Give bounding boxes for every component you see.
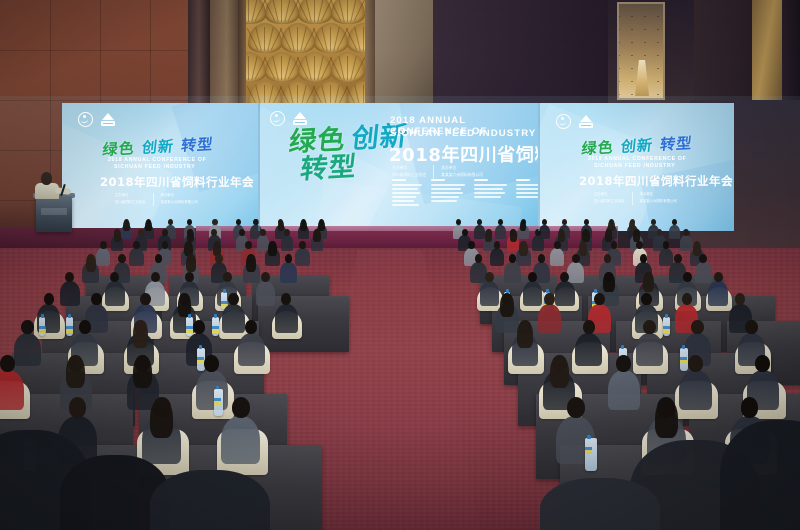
audience-person-body	[555, 281, 575, 306]
audience-person-body	[695, 262, 712, 283]
audience-person-hair	[550, 355, 569, 388]
audience-person-head	[162, 241, 169, 249]
water-bottle	[214, 389, 223, 416]
right-host-label: 承办单位	[640, 192, 677, 198]
right-organizer-block: 主办单位 四川省饲料工业协会 承办单位 某某某六洲饲料有限公司	[594, 192, 677, 205]
shield-mark-logo	[101, 113, 115, 126]
audience-person-body	[575, 333, 602, 367]
screen-seam-right	[538, 103, 540, 231]
audience-person-head	[583, 320, 595, 335]
center-host-label: 承办单位	[441, 165, 483, 171]
audience-person-body	[60, 281, 80, 306]
right-title-en-line1: 2018 ANNUAL CONFERENCE OF	[588, 156, 687, 162]
audience-person-body	[14, 333, 41, 367]
audience-person-body	[281, 235, 293, 251]
center-title-cn: 2018年四川省饲料行业年会	[389, 141, 538, 167]
audience-person-hair	[268, 241, 276, 256]
audience-person-head	[528, 272, 537, 283]
audience-person-hair	[517, 320, 533, 348]
audience-person-head	[245, 241, 252, 249]
audience-person-body	[105, 281, 125, 306]
audience-person-head	[594, 293, 605, 305]
audience-person-head	[641, 293, 652, 305]
audience-person-head	[215, 254, 223, 263]
audience-person-hair	[603, 272, 614, 292]
audience-person-body	[608, 370, 640, 410]
foreground-audience-silhouette	[150, 470, 270, 530]
audience-seating	[0, 0, 800, 530]
audience-person-body	[567, 262, 584, 283]
audience-person-body	[636, 333, 663, 367]
audience-person-hair	[114, 229, 121, 242]
audience-person-head	[299, 241, 306, 249]
calligraphy-word-cyan: 创新	[141, 135, 175, 158]
audience-person-body	[129, 248, 143, 266]
audience-person-body	[680, 235, 692, 251]
led-screen-wall: 绿色 创新 转型 2018 ANNUAL CONFERENCE OF SICHU…	[62, 103, 734, 231]
audience-person-head	[118, 254, 126, 263]
right-host-name: 某某某六洲饲料有限公司	[640, 199, 677, 205]
left-title-cn: 2018年四川省饲料行业年会	[100, 174, 254, 190]
audience-person-hair	[246, 254, 256, 271]
audience-person-head	[232, 397, 250, 418]
audience-person-head	[133, 241, 140, 249]
center-main-screen: 绿色 创新 转型 2018 ANNUAL CONFERENCE OF SICHU…	[258, 103, 538, 231]
audience-person-head	[683, 272, 692, 283]
water-bottle	[585, 438, 596, 470]
audience-person-head	[21, 320, 33, 335]
audience-person-body	[523, 281, 543, 306]
water-bottle	[680, 348, 688, 370]
left-calligraphy: 绿色 创新 转型	[102, 133, 215, 160]
audience-person-hair	[558, 229, 565, 242]
water-bottle	[663, 317, 670, 336]
audience-person-body	[221, 416, 260, 465]
shield-mark-logo	[579, 115, 593, 128]
audience-person-hair	[655, 398, 678, 438]
audience-person-hair	[643, 272, 654, 292]
water-bottle	[212, 317, 219, 336]
left-organizer-name: 四川省饲料工业协会	[115, 200, 146, 206]
audience-person-head	[185, 272, 194, 283]
audience-person-body	[550, 248, 564, 266]
calligraphy-word-blue: 转型	[180, 133, 214, 156]
right-side-screen: 绿色 创新 转型 2018 ANNUAL CONFERENCE OF SICHU…	[538, 103, 734, 231]
audience-person-body	[256, 281, 276, 306]
audience-person-head	[151, 272, 160, 283]
audience-person-hair	[66, 355, 85, 388]
screen-seam-left	[258, 103, 260, 231]
audience-person-head	[691, 320, 703, 335]
audience-person-hair	[86, 254, 96, 271]
circular-emblem-logo	[78, 112, 93, 127]
audience-person-body	[480, 281, 500, 306]
audience-person-head	[485, 272, 494, 283]
left-title-en-line2: SICHUAN FEED INDUSTRY	[114, 164, 195, 172]
audience-person-body	[222, 304, 245, 333]
audience-person-body	[659, 248, 673, 266]
calligraphy-word-transform-a: 转型	[299, 154, 358, 185]
audience-person-body	[238, 333, 265, 367]
left-organizer-label: 主办单位	[115, 193, 146, 199]
audience-person-head	[616, 355, 631, 372]
left-host-label: 承办单位	[161, 193, 198, 199]
audience-person-head	[544, 293, 555, 305]
right-screen-logos	[556, 114, 593, 129]
right-title-en-line2: SICHUAN FEED INDUSTRY	[594, 163, 675, 169]
audience-person-body	[504, 262, 521, 283]
center-screen-logos	[270, 111, 307, 126]
audience-person-body	[0, 370, 24, 410]
audience-person-head	[699, 254, 707, 263]
audience-person-head	[643, 320, 655, 335]
right-organizer-label: 主办单位	[594, 192, 625, 198]
calligraphy-word-blue: 转型	[659, 132, 693, 155]
audience-person-head	[682, 293, 693, 305]
audience-person-body	[490, 248, 504, 266]
audience-person-head	[140, 293, 151, 305]
audience-person-head	[79, 320, 91, 335]
audience-person-body	[538, 304, 561, 333]
left-side-screen: 绿色 创新 转型 2018 ANNUAL CONFERENCE OF SICHU…	[62, 103, 258, 231]
audience-person-hair	[510, 229, 517, 242]
audience-person-hair	[579, 241, 587, 256]
audience-person-head	[44, 293, 55, 305]
circular-emblem-logo	[270, 111, 285, 126]
center-organizer-block: 主办单位 四川省饲料工业协会 承办单位 某某某六洲饲料有限公司	[392, 165, 483, 179]
audience-person-head	[567, 397, 585, 418]
left-host-name: 某某某六洲饲料有限公司	[161, 200, 198, 206]
audience-person-body	[280, 262, 297, 283]
audience-person-head	[714, 272, 723, 283]
audience-person-head	[223, 272, 232, 283]
audience-person-body	[470, 262, 487, 283]
audience-person-body	[96, 248, 110, 266]
audience-person-head	[204, 355, 219, 372]
audience-person-head	[741, 397, 759, 418]
audience-person-body	[275, 304, 298, 333]
shield-mark-logo	[293, 112, 307, 125]
foreground-audience-silhouette	[540, 478, 660, 530]
center-title-en-line2: SICHUAN FEED INDUSTRY	[390, 128, 536, 139]
audience-person-hair	[485, 229, 492, 242]
audience-person-head	[100, 241, 107, 249]
center-host-name: 某某某六洲饲料有限公司	[441, 172, 483, 178]
audience-person-head	[755, 355, 770, 372]
audience-person-head	[228, 293, 239, 305]
water-bottle	[66, 317, 73, 336]
audience-person-hair	[500, 293, 513, 317]
audience-person-body	[708, 281, 728, 306]
calligraphy-word-cyan: 创新	[620, 134, 654, 157]
right-title-cn: 2018年四川省饲料行业年会	[579, 173, 733, 189]
audience-person-head	[554, 241, 561, 249]
audience-person-hair	[519, 241, 527, 256]
right-organizer-name: 四川省饲料工业协会	[594, 199, 625, 205]
audience-person-head	[663, 241, 670, 249]
audience-person-head	[69, 397, 87, 418]
audience-person-hair	[186, 254, 196, 271]
center-organizer-name: 四川省饲料工业协会	[392, 172, 426, 178]
audience-person-head	[572, 254, 580, 263]
audience-person-head	[0, 355, 15, 372]
circular-emblem-logo	[556, 114, 571, 129]
audience-person-head	[611, 241, 618, 249]
audience-person-hair	[693, 241, 701, 256]
right-calligraphy: 绿色 创新 转型	[581, 132, 694, 159]
audience-person-body	[257, 235, 269, 251]
audience-person-head	[261, 272, 270, 283]
audience-person-head	[688, 355, 703, 372]
left-organizer-block: 主办单位 四川省饲料工业协会 承办单位 某某某六洲饲料有限公司	[115, 193, 198, 206]
audience-person-head	[636, 241, 643, 249]
audience-person-head	[745, 320, 757, 335]
audience-person-body	[679, 370, 711, 410]
left-screen-logos	[78, 112, 115, 127]
audience-person-body	[295, 248, 309, 266]
audience-person-hair	[313, 229, 320, 242]
audience-person-hair	[605, 229, 612, 242]
conference-photo-scene: 绿色 创新 转型 2018 ANNUAL CONFERENCE OF SICHU…	[0, 0, 800, 530]
audience-person-head	[494, 241, 501, 249]
audience-person-head	[91, 293, 102, 305]
audience-person-hair	[150, 398, 173, 438]
center-organizer-label: 主办单位	[392, 165, 426, 171]
water-bottle	[186, 317, 193, 336]
sponsor-list-microtext	[392, 179, 538, 206]
audience-person-head	[674, 254, 682, 263]
audience-person-head	[468, 241, 475, 249]
audience-person-hair	[133, 320, 149, 348]
water-bottle	[39, 317, 46, 336]
audience-person-body	[532, 235, 544, 251]
audience-person-hair	[133, 355, 152, 388]
